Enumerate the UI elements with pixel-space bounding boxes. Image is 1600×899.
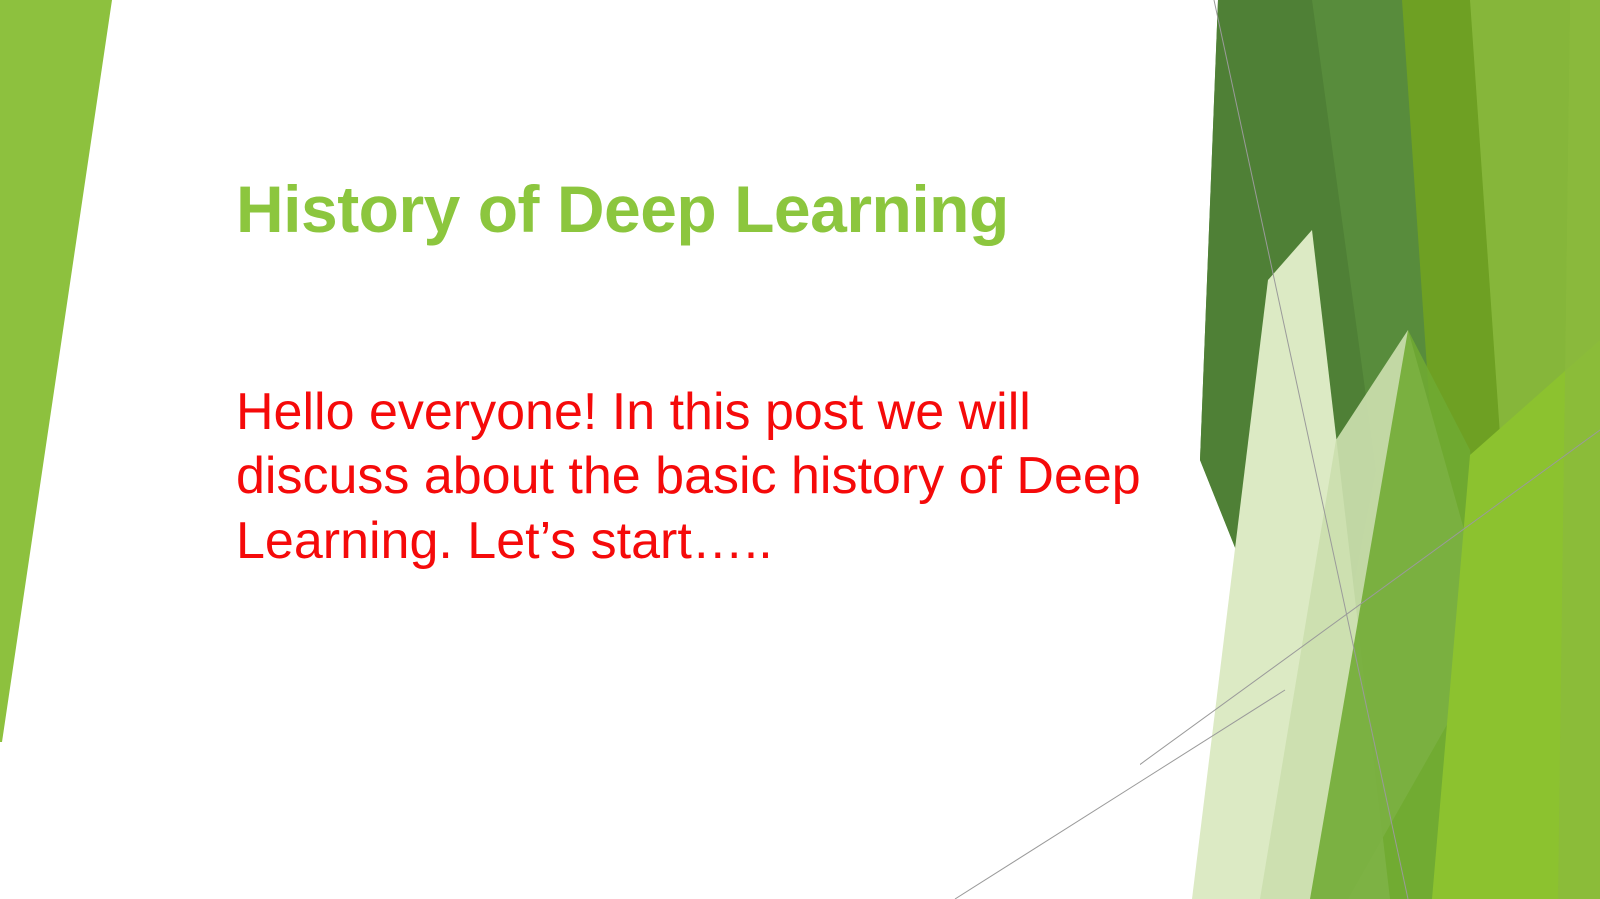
dark-green-shade-shape: [1200, 0, 1376, 760]
presentation-slide: History of Deep Learning Hello everyone!…: [0, 0, 1600, 899]
right-edge-highlight-shape: [1558, 0, 1600, 899]
left-green-wedge-shape: [0, 0, 112, 742]
body-placeholder[interactable]: Hello everyone! In this post we will dis…: [236, 380, 1211, 573]
hairline-diagonal-steep: [1214, 0, 1408, 899]
mid-green-triangle-shape: [1290, 0, 1532, 899]
left-accent-decoration: [0, 0, 200, 899]
page-title: History of Deep Learning: [236, 175, 1136, 244]
light-green-lower-wedge-shape: [1348, 380, 1600, 899]
pale-green-sliver-shape: [1192, 230, 1390, 899]
green-mid-lower-triangle-shape: [1310, 330, 1532, 899]
body-text: Hello everyone! In this post we will dis…: [236, 380, 1211, 573]
lime-lower-right-shape: [1432, 340, 1600, 899]
hairline-extension-left: [955, 690, 1285, 899]
pale-green-triangle-shape: [1260, 330, 1495, 899]
bright-green-panel-shape: [1350, 0, 1600, 899]
title-placeholder[interactable]: History of Deep Learning: [236, 175, 1136, 244]
dark-green-triangle-shape: [1200, 0, 1440, 760]
